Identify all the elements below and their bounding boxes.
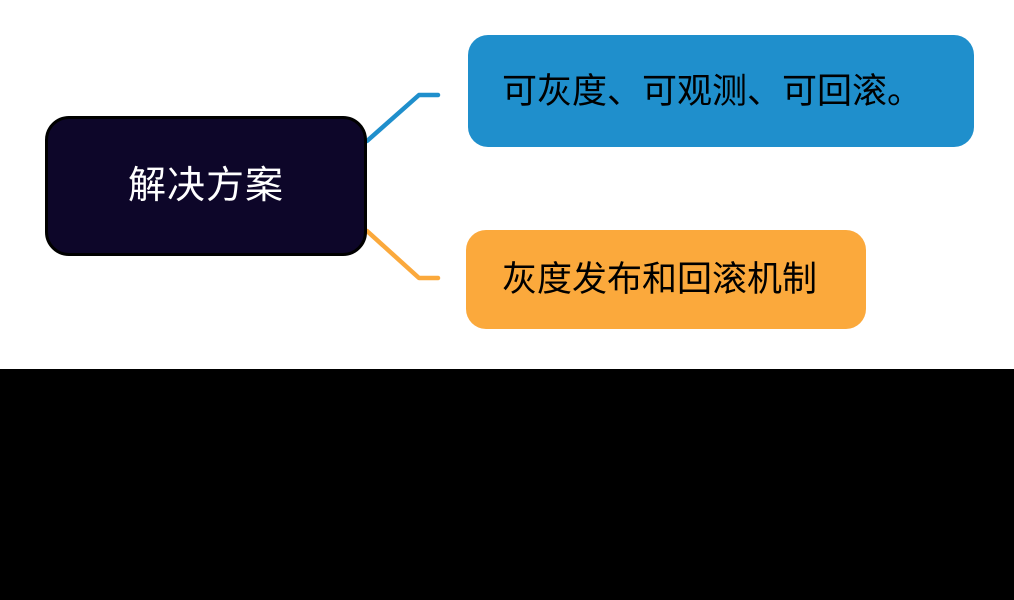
mindmap-branch-label-orange: 灰度发布和回滚机制: [502, 262, 817, 297]
mindmap-branch-label-blue: 可灰度、可观测、可回滚。: [502, 74, 922, 109]
footer-black-band: [0, 369, 1014, 600]
mindmap-branch-node-orange[interactable]: 灰度发布和回滚机制: [466, 230, 866, 329]
connector-line-orange: [367, 231, 438, 278]
mindmap-root-node[interactable]: 解决方案: [45, 116, 367, 256]
slide-canvas: 解决方案 可灰度、可观测、可回滚。 灰度发布和回滚机制: [0, 0, 1014, 600]
mindmap-root-label: 解决方案: [128, 167, 284, 205]
mindmap-branch-node-blue[interactable]: 可灰度、可观测、可回滚。: [468, 35, 974, 147]
connector-line-blue: [367, 95, 438, 141]
